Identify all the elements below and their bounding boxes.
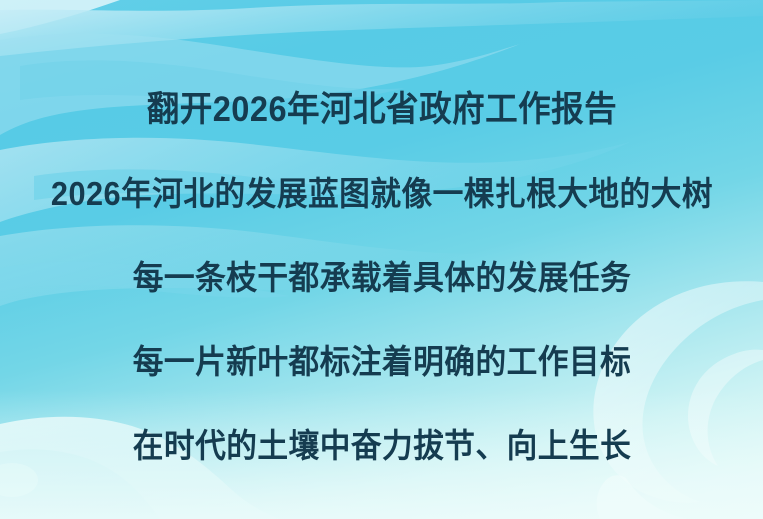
poster-text-stack: 翻开2026年河北省政府工作报告 2026年河北的发展蓝图就像一棵扎根大地的大树… (0, 0, 763, 519)
poster-line-2: 每一条枝干都承载着具体的发展任务 (132, 261, 630, 294)
poster-line-3: 每一片新叶都标注着明确的工作目标 (132, 345, 630, 378)
poster-line-4: 在时代的土壤中奋力拔节、向上生长 (132, 429, 630, 462)
poster-line-1: 2026年河北的发展蓝图就像一棵扎根大地的大树 (50, 177, 712, 210)
poster-title: 翻开2026年河北省政府工作报告 (146, 92, 616, 127)
poster-canvas: 翻开2026年河北省政府工作报告 2026年河北的发展蓝图就像一棵扎根大地的大树… (0, 0, 763, 519)
